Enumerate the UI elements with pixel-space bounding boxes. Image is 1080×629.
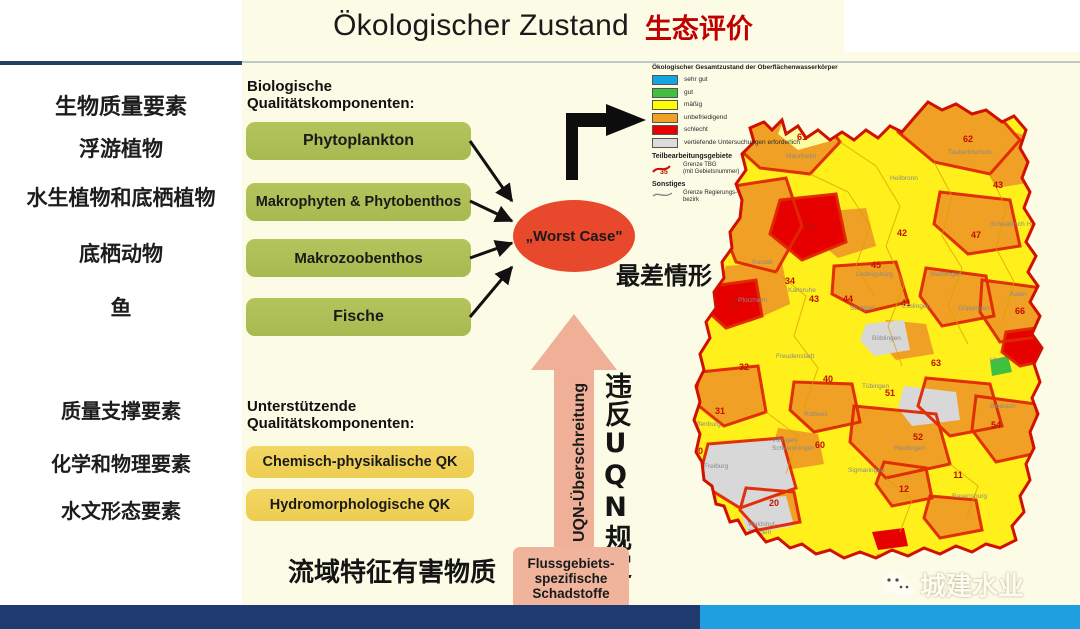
pollutants-box-line3: Schadstoffe [532,586,609,601]
svg-text:31: 31 [715,406,725,416]
box-chemisch-physikalische-qk[interactable]: Chemisch-physikalische QK [246,446,474,478]
svg-text:Göppingen: Göppingen [958,305,990,312]
pollutants-box-line2: spezifische [535,571,608,586]
supporting-header: Unterstützende Qualitätskomponenten: [247,398,415,432]
sidebar-item-macrophytes: 水生植物和底栖植物 [0,182,242,212]
footer-bar-dark [0,605,700,629]
sidebar-item-macrozoobenthos: 底栖动物 [0,238,242,268]
svg-text:Biberach: Biberach [990,403,1016,410]
svg-text:60: 60 [815,440,825,450]
box-makrozoobenthos[interactable]: Makrozoobenthos [246,239,471,277]
biological-header: Biologische Qualitätskomponenten: [247,78,415,112]
legend-item-gut: gut [652,88,857,98]
legend-label-grenze-tbg: Grenze TBG (mit Gebietsnummer) [683,162,739,176]
box-fische[interactable]: Fische [246,298,471,336]
legend-swatch-sehr-gut [652,75,678,85]
svg-text:Sigmaringen: Sigmaringen [848,467,885,474]
svg-text:44: 44 [843,294,853,304]
svg-text:34: 34 [785,276,795,286]
pollutants-box-line1: Flussgebiets- [527,556,614,571]
svg-text:43: 43 [993,180,1003,190]
legend-subtitle-teilbearbeitungsgebiete: Teilbearbeitungsgebiete [652,153,857,160]
svg-text:12: 12 [899,484,909,494]
svg-text:43: 43 [809,294,819,304]
legend-item-grenze-tbg: 35 Grenze TBG (mit Gebietsnummer) [652,162,857,176]
svg-text:Rastatt: Rastatt [752,259,773,266]
biological-header-line1: Biologische [247,78,415,95]
header-divider-right [242,61,1080,63]
legend-item-sehr-gut: sehr gut [652,75,857,85]
svg-text:66: 66 [1015,306,1025,316]
watermark-text: 城建水业 [920,566,1024,603]
grenze-tbg-line2: (mit Gebietsnummer) [683,169,739,175]
legend-title: Ökologischer Gesamtzustand der Oberfläch… [652,64,857,71]
title-banner: Ökologischer Zustand 生态评价 [242,0,844,52]
svg-text:Tauberbischofs.: Tauberbischofs. [948,149,994,156]
svg-text:Waldshut-: Waldshut- [748,521,777,528]
svg-text:63: 63 [931,358,941,368]
svg-text:33: 33 [805,222,815,232]
svg-text:Ravensburg: Ravensburg [952,493,987,500]
grenze-rb-line2: bezirk [683,197,699,203]
legend-swatch-schlecht [652,125,678,135]
supporting-header-line1: Unterstützende [247,398,415,415]
svg-text:Aalen: Aalen [1010,291,1027,298]
legend-label-sehr-gut: sehr gut [684,75,708,84]
svg-text:Freiburg: Freiburg [704,463,729,470]
svg-text:Heilbronn: Heilbronn [890,175,918,182]
svg-text:20: 20 [769,498,779,508]
box-hydromorphologische-qk[interactable]: Hydromorphologische QK [246,489,474,521]
svg-text:Waiblingen: Waiblingen [930,271,962,278]
legend-label-grenze-regierungsbezirk: Grenze Regierungs- bezirk [683,190,737,204]
box-makrophyten-phytobenthos[interactable]: Makrophyten & Phytobenthos [246,183,471,221]
svg-text:42: 42 [897,228,907,238]
page-title-chinese: 生态评价 [645,7,753,46]
svg-text:Pforzheim: Pforzheim [738,297,767,304]
legend-swatch-maessig [652,100,678,110]
sidebar-item-phytoplankton: 浮游植物 [0,133,242,163]
grenze-rb-line1: Grenze Regierungs- [683,190,737,196]
svg-text:Böblingen: Böblingen [872,335,901,342]
svg-text:54: 54 [991,420,1001,430]
svg-text:Esslingen: Esslingen [902,303,931,310]
sidebar-item-hydromorphological: 水文形态要素 [0,495,242,524]
svg-text:Stuttgart: Stuttgart [850,305,875,312]
svg-text:Karlsruhe: Karlsruhe [788,287,816,294]
legend-item-schlecht: schlecht [652,125,857,135]
legend-swatch-unbefriedigend [652,113,678,123]
tbg-boundary-icon: 35 [652,162,678,175]
svg-text:52: 52 [913,432,923,442]
svg-text:35: 35 [660,169,668,175]
legend-item-grenze-regierungsbezirk: Grenze Regierungs- bezirk [652,190,857,204]
svg-text:40: 40 [823,374,833,384]
legend-label-vertiefende: vertiefende Untersuchungen erforderlich [684,138,800,147]
legend-label-schlecht: schlecht [684,125,708,134]
svg-text:45: 45 [871,260,881,270]
wechat-icon [880,571,914,599]
legend-label-maessig: mäßig [684,100,702,109]
svg-text:Ulm: Ulm [990,357,1002,364]
legend-swatch-vertiefende [652,138,678,148]
page-title-german: Ökologischer Zustand [333,9,629,43]
legend-swatch-gut [652,88,678,98]
box-phytoplankton[interactable]: Phytoplankton [246,122,471,160]
sidebar-item-chem-phys: 化学和物理要素 [0,448,242,477]
map-legend: Ökologischer Gesamtzustand der Oberfläch… [652,64,857,204]
biological-header-line2: Qualitätskomponenten: [247,95,415,112]
sidebar: 生物质量要素 浮游植物 水生植物和底栖植物 底栖动物 鱼 质量支撑要素 化学和物… [0,65,242,605]
legend-subtitle-sonstiges: Sonstiges [652,181,857,188]
legend-item-maessig: mäßig [652,100,857,110]
footer-bar-light [700,605,1080,629]
svg-text:Freudenstadt: Freudenstadt [776,353,814,360]
sidebar-item-supporting-quality: 质量支撑要素 [0,395,242,424]
svg-text:47: 47 [971,230,981,240]
pollutants-chinese-label: 流域特征有害物质 [288,552,496,589]
legend-item-unbefriedigend: unbefriedigend [652,113,857,123]
sidebar-item-biological-quality: 生物质量要素 [0,89,242,121]
svg-text:Rottweil: Rottweil [804,411,828,418]
elbow-arrow-icon [566,104,652,184]
legend-label-gut: gut [684,88,693,97]
svg-text:43: 43 [865,110,875,120]
grenze-tbg-line1: Grenze TBG [683,162,717,168]
supporting-header-line2: Qualitätskomponenten: [247,415,415,432]
svg-text:Tübingen: Tübingen [862,383,889,390]
svg-text:62: 62 [963,134,973,144]
legend-item-vertiefende: vertiefende Untersuchungen erforderlich [652,138,857,148]
svg-text:Schwäbisch Hall: Schwäbisch Hall [990,221,1038,228]
box-flussgebietsspezifische-schadstoffe[interactable]: Flussgebiets- spezifische Schadstoffe [513,547,629,610]
svg-text:Reutlingen: Reutlingen [894,445,925,452]
svg-text:Schwenningen: Schwenningen [772,445,815,452]
legend-label-unbefriedigend: unbefriedigend [684,113,727,122]
svg-text:32: 32 [739,362,749,372]
svg-text:11: 11 [953,470,963,480]
svg-text:Villingen-: Villingen- [772,437,799,444]
sidebar-item-fish: 鱼 [0,292,242,322]
watermark: 城建水业 [880,566,1024,603]
regierungsbezirk-boundary-icon [652,190,678,200]
uqn-ueberschreitung-label: UQN-Überschreitung [571,383,589,542]
slide-root: Ökologischer Zustand 生态评价 生物质量要素 浮游植物 水生… [0,0,1080,629]
svg-text:Ludwigsburg: Ludwigsburg [856,271,893,278]
